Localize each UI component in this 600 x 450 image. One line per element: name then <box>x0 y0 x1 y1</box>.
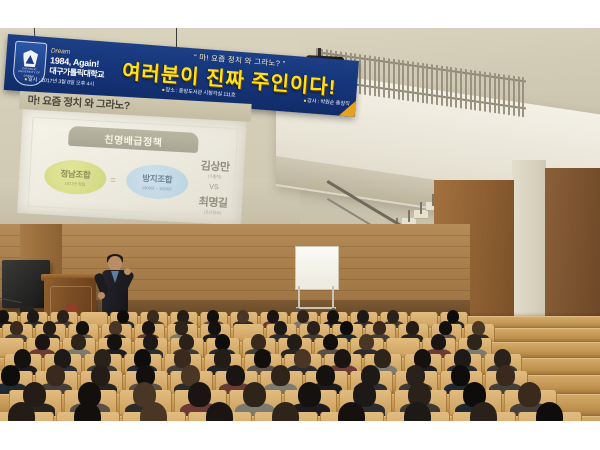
audience-member-head <box>208 321 221 335</box>
university-block: Dream 1984, Again! 대구가톨릭대학교 <box>49 47 106 80</box>
audience-member-head <box>373 321 386 335</box>
audience-member-head <box>251 334 266 350</box>
railing-baluster <box>441 66 443 106</box>
shield-icon <box>22 50 38 68</box>
railing-baluster <box>378 57 380 97</box>
audience-member-head <box>57 310 69 323</box>
audience-member-head <box>27 310 39 323</box>
railing-baluster <box>374 56 376 96</box>
audience-member-head <box>334 349 351 367</box>
audience-member-head <box>518 382 541 407</box>
audience-member-head <box>143 334 158 350</box>
presenter-left-hand <box>98 292 105 299</box>
audience-member-head <box>272 402 299 421</box>
audience-member-head <box>404 402 431 421</box>
floor-plank <box>0 268 470 269</box>
audience-member-head <box>175 321 188 335</box>
railing-baluster <box>431 64 433 104</box>
audience-member-head <box>117 310 129 323</box>
audience-member-head <box>206 402 233 421</box>
slide-oval-right-sub: 1908년 ~ 1920년 <box>142 184 172 192</box>
audience-member-head <box>307 321 320 335</box>
audience-member-head <box>439 321 452 335</box>
audience-member-head <box>298 382 321 407</box>
audience-member-head <box>271 365 290 386</box>
railing-baluster <box>426 64 428 104</box>
railing-baluster <box>436 65 438 105</box>
slide-oval-left: 정남조합 1921년 창립 <box>43 159 107 196</box>
audience-member-head <box>472 321 485 335</box>
audience-member-head <box>316 365 335 386</box>
audience-member-head <box>431 334 446 350</box>
slide-surface: 친명배급정책 정남조합 1921년 창립 = 방지조합 1908년 ~ 1920… <box>17 109 246 225</box>
railing-baluster <box>359 54 361 94</box>
floor-plank <box>0 257 470 258</box>
railing-baluster <box>484 72 486 112</box>
slide-oval-left-label: 정남조합 <box>60 167 91 181</box>
audience-member-head <box>340 321 353 335</box>
slide-oval-left-sub: 1921년 창립 <box>64 180 85 187</box>
audience-member-head <box>467 334 482 350</box>
audience-member-head <box>338 402 365 421</box>
audience-member-head <box>536 402 563 421</box>
slide-content-frame: 친명배급정책 정남조합 1921년 창립 = 방지조합 1908년 ~ 1920… <box>28 117 239 218</box>
railing-baluster <box>407 61 409 101</box>
audience-member-head <box>179 334 194 350</box>
audience-member-head <box>387 310 399 323</box>
railing-baluster <box>417 62 419 102</box>
audience-member-head <box>243 382 266 407</box>
audience-member-head <box>406 321 419 335</box>
audience-member-head <box>71 334 86 350</box>
audience-member-head <box>226 365 245 386</box>
whiteboard-leg-left <box>298 286 300 308</box>
floor-plank <box>0 235 470 236</box>
railing-baluster <box>470 70 472 110</box>
railing-baluster <box>412 61 414 101</box>
audience-member-head <box>254 349 271 367</box>
railing-baluster <box>465 69 467 109</box>
slide-oval-right: 방지조합 1908년 ~ 1920년 <box>125 163 189 200</box>
audience-member-head <box>1 365 20 386</box>
whiteboard-base <box>296 307 336 309</box>
whiteboard-leg-right <box>332 286 334 308</box>
audience-seating <box>0 316 600 421</box>
slide-relation-symbol: = <box>110 175 116 186</box>
railing-baluster <box>522 77 524 117</box>
audience-member-head <box>297 310 309 323</box>
railing-baluster <box>369 55 371 95</box>
slide-person-two-sub: (조선일보) <box>188 209 236 218</box>
railing-baluster <box>388 58 390 98</box>
audience-member-head <box>237 310 249 323</box>
photograph: CATHOLIC UNIVERSITY OF DAEGU Dream 1984,… <box>0 28 600 421</box>
projection-screen: 마! 요즘 정치 와 그라노? 친명배급정책 정남조합 1921년 창립 = 방… <box>13 91 252 232</box>
audience-member-head <box>451 365 470 386</box>
railing-baluster <box>383 57 385 97</box>
audience-member-head <box>274 321 287 335</box>
photo-matte-bottom <box>0 421 600 450</box>
audience-member-head <box>109 321 122 335</box>
audience-member-head <box>74 402 101 421</box>
stair-post <box>420 202 422 214</box>
railing-baluster <box>498 74 500 114</box>
audience-member-head <box>357 310 369 323</box>
railing-baluster <box>398 59 400 99</box>
slide-person-one-sub: (가톨릭) <box>190 173 238 182</box>
audience-member-head <box>447 310 459 323</box>
audience-member-head <box>46 365 65 386</box>
railing-baluster <box>402 60 404 100</box>
slide-compare-block: 김상만 (가톨릭) VS 최명길 (조선일보) <box>188 157 239 222</box>
presenter-right-hand <box>124 268 131 275</box>
railing-baluster <box>450 67 452 107</box>
audience-member-head <box>294 349 311 367</box>
audience-member-head <box>470 402 497 421</box>
railing-baluster <box>508 75 510 115</box>
railing-baluster <box>518 76 520 116</box>
audience-member-head <box>43 321 56 335</box>
railing-baluster <box>489 72 491 112</box>
audience-member-head <box>142 321 155 335</box>
railing-baluster <box>364 55 366 95</box>
railing-baluster <box>494 73 496 113</box>
stair-post <box>408 210 410 222</box>
audience-member-head <box>140 402 167 421</box>
railing-baluster <box>455 68 457 108</box>
audience-member-head <box>215 334 230 350</box>
railing-baluster <box>503 74 505 114</box>
screenshot-root: CATHOLIC UNIVERSITY OF DAEGU Dream 1984,… <box>0 0 600 450</box>
audience-member-head <box>0 310 9 323</box>
railing-baluster <box>393 59 395 99</box>
presenter-head <box>108 256 122 271</box>
audience-member-head <box>10 321 23 335</box>
slide-banner-label: 친명배급정책 <box>68 126 199 153</box>
railing-baluster <box>460 68 462 108</box>
audience-member-head <box>323 334 338 350</box>
rolling-whiteboard <box>295 246 339 290</box>
floor-plank <box>0 246 470 247</box>
audience-member-head <box>327 310 339 323</box>
railing-baluster <box>446 66 448 106</box>
audience-member-head <box>374 349 391 367</box>
audience-member-head <box>287 334 302 350</box>
railing-baluster <box>422 63 424 103</box>
railing-baluster <box>474 70 476 110</box>
audience-member-head <box>8 402 35 421</box>
audience-member-head <box>107 334 122 350</box>
audience-member-head <box>359 334 374 350</box>
slide-oval-right-label: 방지조합 <box>142 171 173 185</box>
audience-member-head <box>14 349 31 367</box>
photo-matte-top <box>0 0 600 28</box>
audience-member-head <box>496 365 515 386</box>
slide-vs-label: VS <box>190 183 238 193</box>
audience-member-head <box>214 349 231 367</box>
railing-baluster <box>513 76 515 116</box>
audience-member-head <box>35 334 50 350</box>
railing-baluster <box>479 71 481 111</box>
audience-member-head <box>76 321 89 335</box>
audience-member-head <box>188 382 211 407</box>
